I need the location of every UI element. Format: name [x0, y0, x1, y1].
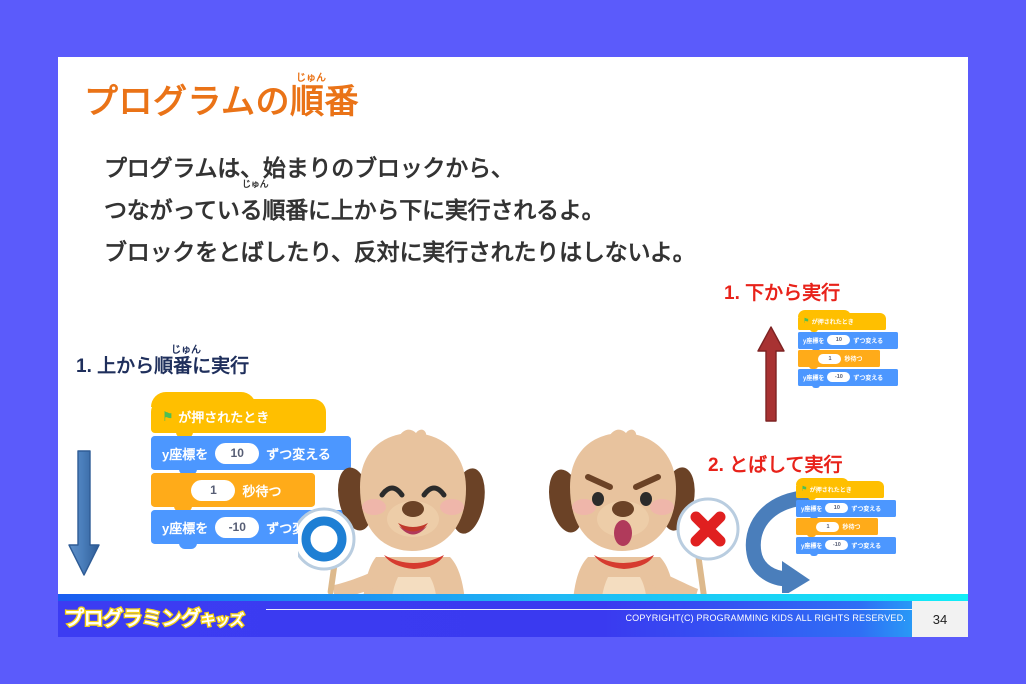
- caption-left-text: 1. 上から順番に実行: [76, 356, 249, 377]
- block-when-flag-clicked-3[interactable]: ⚑ が押されたとき: [796, 481, 884, 498]
- body-line-1: プログラムは、始まりのブロックから、: [104, 147, 695, 189]
- down-arrow-icon: [67, 449, 101, 577]
- block-change-y-by-minus-10-2[interactable]: y座標を -10 ずつ変える: [798, 369, 898, 386]
- green-flag-icon-2: ⚑: [803, 318, 809, 325]
- block-change-y-suffix-6: ずつ変える: [851, 541, 881, 550]
- block-wait-value[interactable]: 1: [191, 480, 235, 501]
- block-wait-seconds-2[interactable]: 1 秒待つ: [798, 350, 880, 367]
- caption-bottom-up-order: 1. 下から実行: [724, 284, 840, 303]
- block-change-y-prefix-3: y座標を: [803, 336, 824, 345]
- body-line-2: じゅん つながっている順番に上から下に実行されるよ。: [104, 189, 695, 231]
- scratch-stack-bottom-up: ⚑ が押されたとき y座標を 10 ずつ変える 1 秒待つ y座標を -10 ず…: [798, 313, 898, 387]
- block-change-y-value-3[interactable]: 10: [827, 335, 850, 345]
- up-arrow-icon: [756, 325, 786, 423]
- block-change-y-prefix: y座標を: [162, 444, 208, 463]
- caption-top-down-order: じゅん 1. 上から順番に実行: [76, 357, 249, 376]
- block-wait-label-3: 秒待つ: [842, 522, 860, 531]
- block-change-y-value-2[interactable]: -10: [215, 517, 259, 538]
- title-text: プログラムの順番: [84, 83, 359, 121]
- block-change-y-by-minus-10-3[interactable]: y座標を -10 ずつ変える: [796, 537, 896, 554]
- block-when-flag-clicked-2[interactable]: ⚑ が押されたとき: [798, 313, 886, 330]
- block-wait-label-2: 秒待つ: [844, 354, 862, 363]
- block-change-y-prefix-2: y座標を: [162, 518, 208, 537]
- block-wait-value-2[interactable]: 1: [818, 354, 841, 364]
- scratch-stack-skipping: ⚑ が押されたとき y座標を 10 ずつ変える 1 秒待つ y座標を -10 ず…: [796, 481, 896, 555]
- copyright-text: COPYRIGHT(C) PROGRAMMING KIDS ALL RIGHTS…: [625, 613, 906, 623]
- body-line-2-text: つながっている順番に上から下に実行されるよ。: [104, 197, 604, 223]
- brand-logo-sub: キッズ: [201, 612, 245, 629]
- block-wait-seconds[interactable]: 1 秒待つ: [151, 473, 315, 507]
- green-flag-icon: ⚑: [162, 410, 174, 423]
- page-number: 34: [912, 601, 968, 637]
- block-hat-label-3: が押されたとき: [810, 485, 852, 494]
- block-change-y-by-10-3[interactable]: y座標を 10 ずつ変える: [796, 500, 896, 517]
- block-wait-seconds-3[interactable]: 1 秒待つ: [796, 518, 878, 535]
- block-change-y-value[interactable]: 10: [215, 443, 259, 464]
- body-line-3: ブロックをとばしたり、反対に実行されたりはしないよ。: [104, 231, 695, 273]
- green-flag-icon-3: ⚑: [801, 486, 807, 493]
- block-change-y-prefix-6: y座標を: [801, 541, 822, 550]
- footer-divider-line: [266, 609, 964, 610]
- block-hat-label-2: が押されたとき: [812, 317, 854, 326]
- block-wait-label: 秒待つ: [242, 481, 281, 500]
- block-change-y-by-10-2[interactable]: y座標を 10 ずつ変える: [798, 332, 898, 349]
- block-wait-value-3[interactable]: 1: [816, 522, 839, 532]
- block-change-y-suffix-4: ずつ変える: [853, 373, 883, 382]
- block-hat-label: が押されたとき: [178, 407, 269, 426]
- block-change-y-suffix-5: ずつ変える: [851, 504, 881, 513]
- block-change-y-value-5[interactable]: 10: [825, 503, 848, 513]
- body-line-2-ruby: じゅん: [242, 180, 268, 189]
- block-change-y-value-4[interactable]: -10: [827, 372, 850, 382]
- footer-accent-bar: [58, 594, 968, 601]
- slide-footer: プログラミングキッズ COPYRIGHT(C) PROGRAMMING KIDS…: [58, 601, 968, 637]
- body-paragraph: プログラムは、始まりのブロックから、 じゅん つながっている順番に上から下に実行…: [104, 147, 695, 273]
- brand-logo-main: プログラミング: [64, 608, 201, 630]
- block-change-y-prefix-4: y座標を: [803, 373, 824, 382]
- block-change-y-prefix-5: y座標を: [801, 504, 822, 513]
- presentation-slide: じゅん プログラムの順番 プログラムは、始まりのブロックから、 じゅん つながっ…: [58, 57, 968, 637]
- page-title: じゅん プログラムの順番: [84, 85, 359, 119]
- block-change-y-value-6[interactable]: -10: [825, 540, 848, 550]
- slide-title-area: じゅん プログラムの順番: [84, 85, 359, 119]
- brand-logo: プログラミングキッズ: [64, 606, 244, 634]
- caption-left-ruby: じゅん: [171, 346, 201, 356]
- title-ruby: じゅん: [296, 74, 326, 84]
- block-change-y-suffix-3: ずつ変える: [853, 336, 883, 345]
